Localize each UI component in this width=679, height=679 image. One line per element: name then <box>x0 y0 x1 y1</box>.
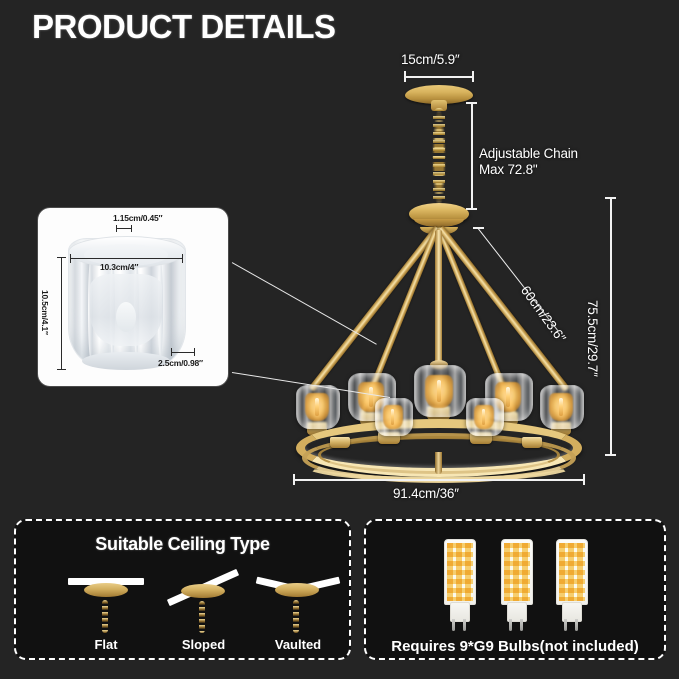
center-drop-rod <box>435 230 442 365</box>
crystal-base-width-label: 2.5cm/0.98″ <box>158 358 203 368</box>
g9-bulb-body <box>444 539 476 605</box>
product-details-infographic: PRODUCT DETAILS <box>0 0 679 679</box>
canopy-width-cap-left <box>404 71 406 82</box>
crystal-base-width-cap-left <box>171 348 172 356</box>
crystal-height-cap-top <box>57 257 66 258</box>
g9-bulb <box>501 539 531 633</box>
g9-led-chips <box>504 543 530 601</box>
crystal-inner-width-cap-left <box>70 254 71 263</box>
crystal-height-cap-bottom <box>57 369 66 370</box>
ring-width-cap-left <box>293 474 295 485</box>
crystal-shade-detail-panel: 1.15cm/0.45″ 10.3cm/4″ 10.5cm/4.1″ 2.5cm… <box>38 208 228 386</box>
total-height-cap-bottom <box>605 454 616 456</box>
crystal-base-width-line <box>171 352 195 353</box>
g9-bulb-pin <box>452 619 455 631</box>
suitable-ceiling-type-panel: Suitable Ceiling Type Flat Sloped Vaulte… <box>14 519 351 660</box>
g9-bulb-pin <box>463 619 466 631</box>
inset-leader-line-top <box>232 262 377 345</box>
crystal-top-width-label: 1.15cm/0.45″ <box>113 213 162 223</box>
chain-length-line <box>471 103 473 209</box>
vaulted-ceiling-label: Vaulted <box>248 637 348 652</box>
required-bulbs-panel: Requires 9*G9 Bulbs(not included) <box>364 519 666 660</box>
sloped-ceiling-label: Sloped <box>151 637 256 652</box>
crystal-inner-width-label: 10.3cm/4″ <box>100 262 138 272</box>
g9-bulb-pin <box>564 619 567 631</box>
chain-length-cap-top <box>466 102 477 104</box>
g9-bulb-pin <box>520 619 523 631</box>
crystal-top-width-cap-left <box>116 225 117 232</box>
canopy-width-line <box>404 76 474 78</box>
crystal-top-width-cap-right <box>131 225 132 232</box>
g9-bulb-pin <box>575 619 578 631</box>
crystal-shade <box>375 398 411 434</box>
ring-width-line <box>293 479 585 481</box>
shade-socket <box>330 437 350 448</box>
crystal-height-label: 10.5cm/4.1″ <box>40 290 50 335</box>
flat-ceiling-icon <box>56 573 156 635</box>
ring-width-label: 91.4cm/36″ <box>393 486 459 501</box>
crystal-shade <box>466 398 502 434</box>
sloped-ceiling-icon <box>151 567 256 637</box>
crystal-shade <box>414 365 464 415</box>
flat-ceiling-label: Flat <box>56 637 156 652</box>
crystal-inner-width-line <box>70 258 183 259</box>
bulb-requirement-caption: Requires 9*G9 Bulbs(not included) <box>366 638 664 655</box>
vaulted-chain <box>293 600 299 633</box>
crystal-shade <box>540 385 582 427</box>
chain-length-label-line1: Adjustable Chain <box>479 146 578 161</box>
crystal-height-line <box>61 257 62 370</box>
hanging-chain-highlight <box>433 108 445 208</box>
canopy-width-label: 15cm/5.9″ <box>401 52 460 67</box>
flat-chain <box>102 600 108 633</box>
crystal-shade <box>296 385 338 427</box>
crystal-top-width-line <box>116 228 132 229</box>
shade-socket <box>522 437 542 448</box>
g9-bulb-body <box>556 539 588 605</box>
total-height-line <box>610 198 612 456</box>
cup-base <box>82 352 170 370</box>
arm-length-cap <box>473 227 484 229</box>
ring-width-cap-right <box>583 474 585 485</box>
sloped-chain <box>199 601 205 633</box>
chandelier-ring-front-overlay <box>302 448 576 482</box>
vaulted-ceiling-icon <box>248 573 348 635</box>
center-hub-band <box>414 219 464 227</box>
crystal-inner-width-cap-right <box>182 254 183 263</box>
g9-led-chips <box>559 543 585 601</box>
g9-bulb <box>444 539 474 633</box>
chain-length-label-line2: Max 72.8" <box>479 162 538 177</box>
canopy-width-cap-right <box>472 71 474 82</box>
crystal-base-width-cap-right <box>194 348 195 356</box>
g9-bulb-pin <box>509 619 512 631</box>
g9-bulb <box>556 539 586 633</box>
g9-led-chips <box>447 543 473 601</box>
total-height-cap-top <box>605 197 616 199</box>
cup-center-blob <box>116 302 136 332</box>
total-height-label: 75.5cm/29.7″ <box>585 300 600 377</box>
g9-bulb-body <box>501 539 533 605</box>
ceiling-panel-title: Suitable Ceiling Type <box>16 534 349 555</box>
chain-length-cap-bottom <box>466 208 477 210</box>
